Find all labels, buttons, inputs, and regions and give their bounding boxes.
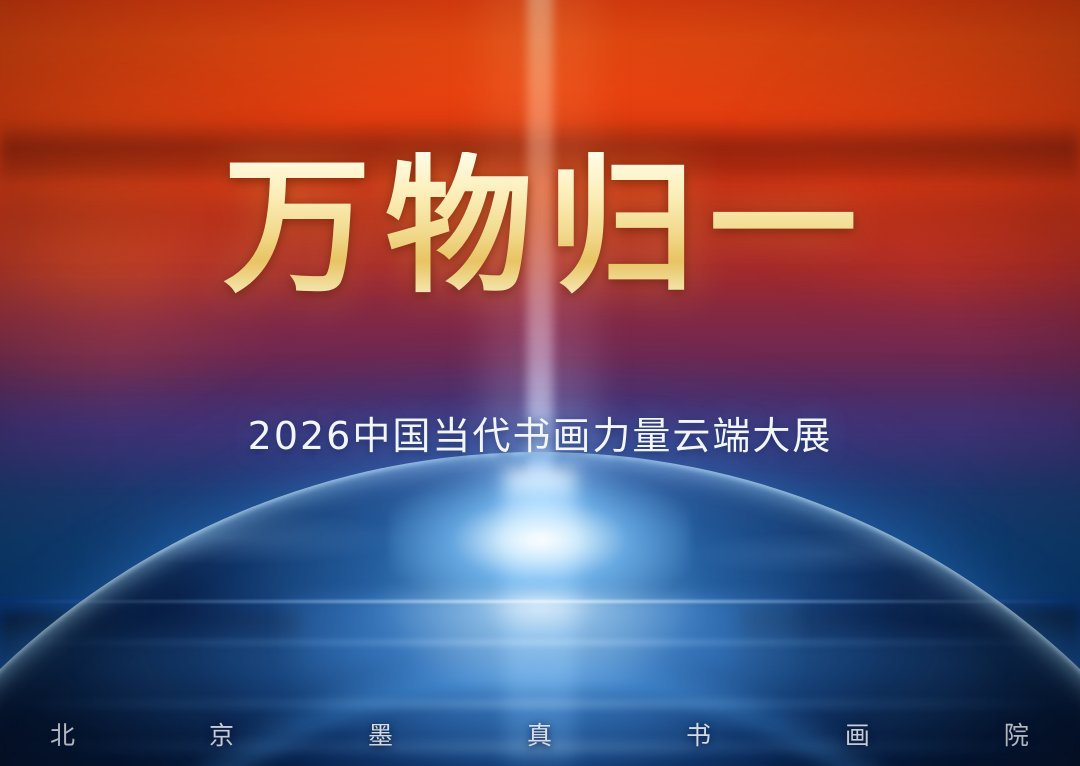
poster-subtitle: 2026中国当代书画力量云端大展 (0, 405, 1080, 460)
footer-char-2: 京 (209, 716, 235, 752)
footer-char-7: 院 (1004, 716, 1030, 752)
poster-title: 万物归一 (0, 152, 1080, 300)
footer-char-1: 北 (50, 716, 76, 752)
poster-footer: 北 京 墨 真 书 画 院 (50, 716, 1030, 752)
footer-char-3: 墨 (368, 716, 394, 752)
footer-char-6: 画 (845, 716, 871, 752)
footer-char-5: 书 (686, 716, 712, 752)
poster-canvas: 万物归一 2026中国当代书画力量云端大展 北 京 墨 真 书 画 院 (0, 0, 1080, 766)
footer-char-4: 真 (527, 716, 553, 752)
